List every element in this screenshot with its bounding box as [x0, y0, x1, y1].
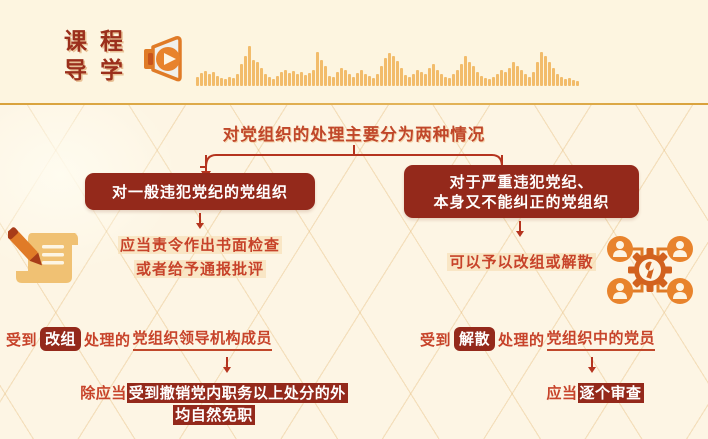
branch-box-serious-line-2: 本身又不能纠正的党组织 — [433, 192, 609, 212]
conclusion-dissolve-line-1: 逐个审查 — [578, 383, 644, 403]
waveform-bar — [548, 62, 551, 86]
branch-box-serious-line-1: 对于严重违犯党纪、 — [433, 172, 609, 192]
waveform-bar — [476, 72, 479, 86]
arrow-down-left-lower — [223, 357, 231, 374]
waveform-bar — [332, 77, 335, 86]
waveform-bar — [468, 62, 471, 86]
waveform-bar — [508, 68, 511, 86]
conclusion-reorganize-line-2: 均自然免职 — [173, 405, 255, 425]
conclusion-dissolve: 应当逐个审查 — [500, 382, 690, 404]
logo-char-3: 导 — [57, 57, 93, 86]
waveform-bar — [376, 74, 379, 86]
statement-dissolve-target: 党组织中的党员 — [547, 327, 656, 351]
waveform-bar — [216, 76, 219, 86]
waveform-bar — [384, 58, 387, 86]
waveform-bar — [492, 77, 495, 86]
org-restructure-gear-icon — [598, 225, 702, 315]
waveform-bar — [496, 74, 499, 86]
waveform-bar — [228, 77, 231, 86]
logo-char-4: 学 — [93, 57, 129, 86]
waveform-bar — [368, 76, 371, 86]
waveform-bar — [372, 78, 375, 86]
waveform-bar — [412, 74, 415, 86]
waveform-bar — [420, 72, 423, 86]
waveform-bar — [380, 66, 383, 86]
waveform-bar — [536, 62, 539, 86]
waveform-bar — [284, 70, 287, 86]
waveform-bar — [524, 74, 527, 86]
waveform-bar — [444, 77, 447, 86]
megaphone-play-icon — [136, 34, 188, 82]
waveform-bar — [500, 70, 503, 86]
waveform-bar — [296, 74, 299, 86]
arrow-down-right-lower — [588, 357, 596, 374]
conclusion-reorganize: 除应当受到撤销党内职务以上处分的外 均自然免职 — [64, 382, 364, 426]
logo-char-2: 程 — [93, 28, 129, 57]
waveform-bar — [336, 72, 339, 86]
waveform-bar — [436, 70, 439, 86]
waveform-bar — [292, 71, 295, 86]
waveform-bar — [252, 60, 255, 86]
waveform-bar — [204, 71, 207, 86]
arrow-head-right — [516, 231, 524, 237]
result-serious-line-1: 可以予以改组或解散 — [447, 253, 595, 271]
content-area: 对党组织的处理主要分为两种情况 对一般违犯党纪的党组织 应当责令作出书面检查 或… — [0, 105, 708, 439]
waveform-bar — [540, 52, 543, 86]
waveform-bar — [440, 74, 443, 86]
waveform-bar — [532, 72, 535, 86]
waveform-bar — [236, 74, 239, 86]
waveform-bar — [560, 77, 563, 86]
waveform-bar — [268, 77, 271, 86]
waveform-bar — [260, 68, 263, 86]
waveform-bar — [340, 68, 343, 86]
waveform-bar — [528, 77, 531, 86]
waveform-bar — [472, 66, 475, 86]
waveform-bar — [392, 56, 395, 86]
waveform-bar — [200, 73, 203, 86]
branch-box-general-line-1: 对一般违犯党纪的党组织 — [112, 182, 288, 202]
arrow-head-left — [196, 223, 204, 229]
page-title: 对党组织的处理主要分为两种情况 — [0, 121, 708, 145]
waveform-bar — [456, 70, 459, 86]
waveform-bar — [352, 77, 355, 86]
waveform-bar — [460, 64, 463, 86]
waveform-bar — [328, 76, 331, 86]
waveform-bar — [324, 66, 327, 86]
result-general-line-1: 应当责令作出书面检查 — [118, 236, 282, 254]
statement-reorganize-prefix: 受到 — [6, 329, 37, 350]
waveform-bar — [356, 73, 359, 86]
statement-dissolve-prefix: 受到 — [420, 329, 451, 350]
waveform-bar — [576, 81, 579, 86]
waveform-bar — [220, 78, 223, 86]
waveform-bar — [556, 74, 559, 86]
statement-dissolve: 受到 解散 处理的 党组织中的党员 — [420, 327, 655, 351]
waveform-bar — [240, 64, 243, 86]
waveform-bar — [512, 62, 515, 86]
waveform-bar — [480, 76, 483, 86]
course-guide-logo: 课 程 导 学 — [57, 28, 129, 86]
waveform-bar — [224, 79, 227, 86]
waveform-bar — [452, 74, 455, 86]
waveform-bar — [400, 68, 403, 86]
badge-reorganize: 改组 — [40, 327, 81, 351]
waveform-bar — [212, 72, 215, 86]
statement-reorganize-target: 党组织领导机构成员 — [133, 327, 273, 351]
waveform-bar — [272, 79, 275, 86]
waveform-bar — [484, 78, 487, 86]
statement-dissolve-middle: 处理的 — [498, 329, 545, 350]
waveform-bar — [304, 75, 307, 86]
waveform-bar — [276, 76, 279, 86]
scroll-pencil-icon — [8, 219, 92, 297]
conclusion-reorganize-line-1: 受到撤销党内职务以上处分的外 — [127, 383, 348, 403]
waveform-bar — [404, 75, 407, 86]
waveform-bar — [572, 80, 575, 86]
result-general: 应当责令作出书面检查 或者给予通报批评 — [85, 233, 315, 281]
waveform-bar — [264, 74, 267, 86]
waveform-bar — [516, 66, 519, 86]
waveform-bar — [244, 56, 247, 86]
waveform-bar — [232, 78, 235, 86]
waveform-bar — [208, 74, 211, 86]
waveform-bar — [544, 56, 547, 86]
waveform-bar — [344, 70, 347, 86]
waveform-bar — [280, 72, 283, 86]
waveform-bar — [448, 78, 451, 86]
waveform-bar — [504, 72, 507, 86]
result-general-line-2: 或者给予通报批评 — [134, 260, 266, 278]
waveform-bar — [288, 73, 291, 86]
waveform-bar — [320, 60, 323, 86]
waveform-bar — [416, 70, 419, 86]
statement-reorganize-middle: 处理的 — [84, 329, 131, 350]
statement-reorganize: 受到 改组 处理的 党组织领导机构成员 — [6, 327, 272, 351]
waveform-bar — [256, 62, 259, 86]
waveform-bar — [396, 61, 399, 86]
waveform-bar — [568, 78, 571, 86]
waveform-bar — [248, 46, 251, 86]
waveform-bar — [432, 64, 435, 86]
waveform-bar — [520, 70, 523, 86]
waveform-bar — [308, 73, 311, 86]
branch-box-serious: 对于严重违犯党纪、 本身又不能纠正的党组织 — [404, 165, 639, 218]
waveform-bar — [316, 52, 319, 86]
waveform-bar — [312, 70, 315, 86]
badge-dissolve: 解散 — [454, 327, 495, 351]
conclusion-dissolve-lead: 应当 — [546, 384, 577, 402]
audio-waveform — [196, 30, 666, 86]
waveform-bar — [464, 56, 467, 86]
logo-char-1: 课 — [57, 28, 93, 57]
waveform-bar — [424, 74, 427, 86]
waveform-bar — [428, 68, 431, 86]
waveform-bar — [196, 77, 199, 86]
infographic-page: 课 程 导 学 对党组织的处理主要分为两种情况 — [0, 0, 708, 439]
conclusion-reorganize-lead: 除应当 — [80, 384, 127, 402]
waveform-bar — [552, 68, 555, 86]
branch-box-general: 对一般违犯党纪的党组织 — [85, 173, 315, 210]
waveform-bar — [300, 72, 303, 86]
waveform-bar — [564, 79, 567, 86]
header-bar: 课 程 导 学 — [0, 0, 708, 105]
waveform-bar — [360, 70, 363, 86]
waveform-bar — [388, 53, 391, 86]
waveform-bar — [364, 74, 367, 86]
waveform-bar — [408, 77, 411, 86]
waveform-bar — [488, 79, 491, 86]
waveform-bar — [348, 74, 351, 86]
